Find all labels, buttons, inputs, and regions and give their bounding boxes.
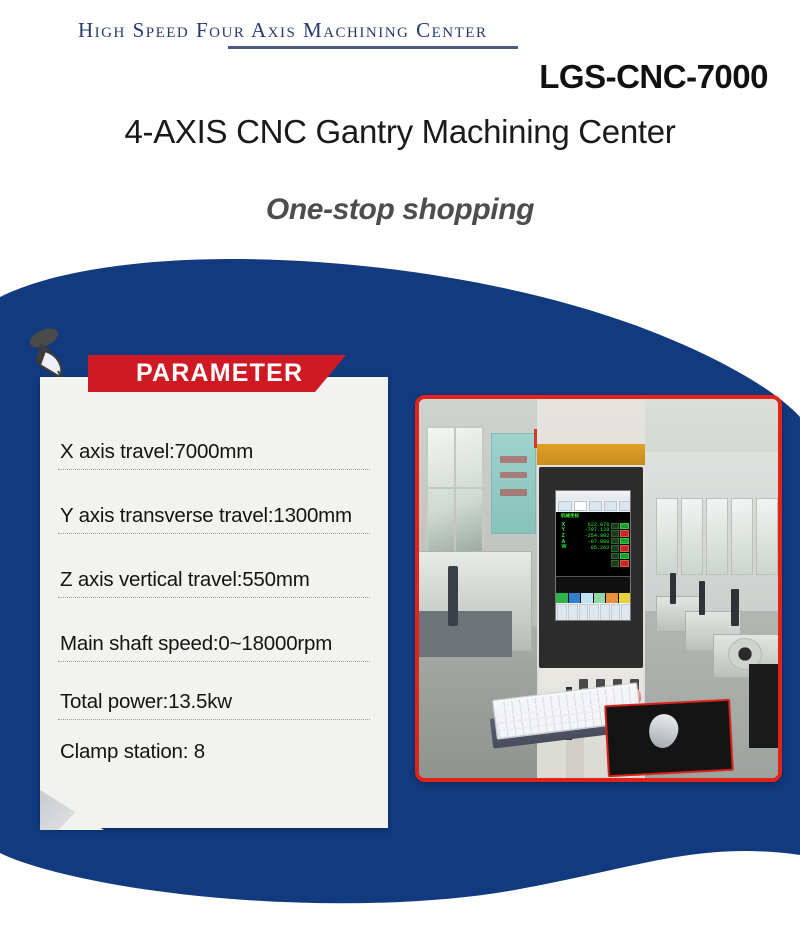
cnc-tab-5[interactable] bbox=[619, 501, 631, 511]
photo-machine-arm-1 bbox=[670, 573, 676, 603]
cnc-softkey-2[interactable] bbox=[568, 604, 578, 621]
cnc-titlebar bbox=[556, 491, 630, 500]
spec-separator bbox=[58, 719, 370, 720]
spec-text: Y axis transverse travel:1300mm bbox=[40, 504, 388, 528]
spec-text: Clamp station: 8 bbox=[40, 740, 388, 764]
photo-window-right-4 bbox=[731, 498, 753, 576]
spec-row: Z axis vertical travel:550mm bbox=[40, 568, 388, 598]
spec-separator bbox=[58, 469, 370, 470]
photo-left-machine-arm bbox=[448, 566, 459, 627]
spec-separator bbox=[58, 661, 370, 662]
photo-window-right-5 bbox=[756, 498, 778, 576]
kicker-underline bbox=[228, 46, 518, 49]
photo-window-right-2 bbox=[681, 498, 703, 576]
tagline: One-stop shopping bbox=[0, 193, 800, 227]
cnc-feed-spindle-bar bbox=[556, 576, 630, 594]
photo-side-monitor bbox=[749, 664, 778, 747]
photo-left-machine-base bbox=[419, 611, 512, 656]
cnc-touchscreen[interactable]: 机械坐标 X Y Z A W 622.076 -797.129 -254.802… bbox=[555, 490, 631, 621]
cnc-softkey-7[interactable] bbox=[621, 604, 631, 621]
model-number: LGS-CNC-7000 bbox=[539, 58, 768, 96]
spec-text: Z axis vertical travel:550mm bbox=[40, 568, 388, 592]
cnc-tab-1[interactable] bbox=[558, 501, 571, 511]
photo-cabinet-orange-band bbox=[537, 444, 645, 465]
photo-window-right-3 bbox=[706, 498, 728, 576]
spec-row: Clamp station: 8 bbox=[40, 740, 388, 764]
cnc-tab-4[interactable] bbox=[604, 501, 617, 511]
cnc-softkey-6[interactable] bbox=[611, 604, 621, 621]
cnc-chip-col-1 bbox=[611, 523, 620, 573]
cnc-axis-values: 622.076 -797.129 -254.802 -87.800 85.262 bbox=[585, 523, 610, 552]
photo-machine-arm-3 bbox=[731, 589, 738, 627]
spec-row: Y axis transverse travel:1300mm bbox=[40, 504, 388, 534]
cnc-softkey-3[interactable] bbox=[579, 604, 589, 621]
spec-row: X axis travel:7000mm bbox=[40, 440, 388, 470]
spec-text: Total power:13.5kw bbox=[40, 690, 388, 714]
cnc-softkey-5[interactable] bbox=[600, 604, 610, 621]
spec-text: X axis travel:7000mm bbox=[40, 440, 388, 464]
cnc-status-chips bbox=[611, 523, 629, 573]
parameter-ribbon-label: PARAMETER bbox=[88, 359, 303, 388]
cnc-softkey-4[interactable] bbox=[589, 604, 599, 621]
page-title: 4-AXIS CNC Gantry Machining Center bbox=[0, 113, 800, 151]
cnc-axis-labels: X Y Z A W bbox=[562, 523, 567, 552]
product-photo-frame: 机械坐标 X Y Z A W 622.076 -797.129 -254.802… bbox=[415, 395, 782, 782]
cnc-softkey-1[interactable] bbox=[557, 604, 567, 621]
cnc-tab-strip[interactable] bbox=[556, 500, 631, 512]
spec-text: Main shaft speed:0~18000rpm bbox=[40, 632, 388, 656]
cnc-color-strip bbox=[556, 593, 630, 603]
kicker-text: High Speed Four Axis Machining Center bbox=[78, 18, 548, 46]
cnc-tab-2[interactable] bbox=[574, 501, 587, 511]
header-banner: High Speed Four Axis Machining Center LG… bbox=[0, 0, 800, 262]
cnc-softkey-row[interactable] bbox=[556, 603, 631, 621]
spec-separator bbox=[58, 533, 370, 534]
spec-separator bbox=[58, 597, 370, 598]
photo-wall-banner bbox=[491, 433, 536, 534]
product-photo: 机械坐标 X Y Z A W 622.076 -797.129 -254.802… bbox=[419, 399, 778, 778]
spec-row: Main shaft speed:0~18000rpm bbox=[40, 632, 388, 662]
cnc-display-title: 机械坐标 bbox=[561, 513, 579, 519]
parameter-ribbon: PARAMETER bbox=[88, 355, 346, 392]
cnc-chip-col-2 bbox=[620, 523, 629, 573]
photo-window-right-1 bbox=[656, 498, 678, 576]
photo-window-left bbox=[426, 426, 484, 559]
cnc-coordinate-display: 机械坐标 X Y Z A W 622.076 -797.129 -254.802… bbox=[556, 512, 630, 576]
photo-machine-arm-2 bbox=[699, 581, 705, 615]
cnc-tab-3[interactable] bbox=[589, 501, 602, 511]
spec-row: Total power:13.5kw bbox=[40, 690, 388, 720]
